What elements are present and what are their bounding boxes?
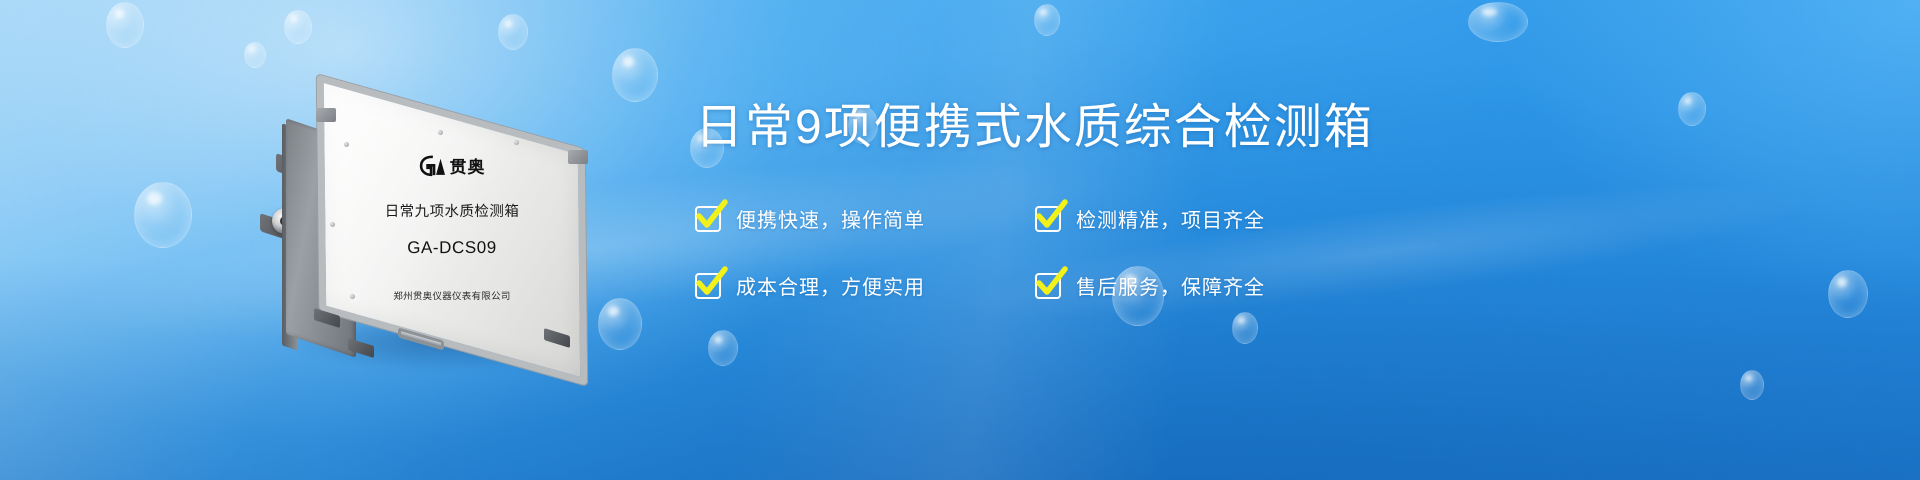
bubble-icon (134, 182, 192, 248)
feature-label: 售后服务，保障齐全 (1076, 271, 1265, 300)
feature-list: 便携快速，操作简单 检测精准，项目齐全 成本合理，方便实用 (695, 204, 1695, 300)
product-hero-banner: 贯奥 日常九项水质检测箱 GA-DCS09 郑州贯奥仪器仪表有限公司 日常9项便… (0, 0, 1920, 480)
bubble-icon (612, 48, 658, 102)
case-model: GA-DCS09 (407, 238, 497, 258)
case-corner-bracket (316, 108, 336, 122)
feature-item-1: 便携快速，操作简单 (695, 204, 1035, 233)
screw-icon (330, 222, 335, 227)
case-title: 日常九项水质检测箱 (385, 200, 520, 221)
ga-monogram-icon (419, 154, 445, 176)
bubble-icon (498, 14, 528, 50)
checkbox-checked-icon (1035, 206, 1061, 232)
banner-content: 日常9项便携式水质综合检测箱 便携快速，操作简单 检测精准，项目齐全 (695, 104, 1695, 300)
feature-label: 便携快速，操作简单 (736, 204, 925, 233)
checkbox-checked-icon (695, 206, 721, 232)
page-title: 日常9项便携式水质综合检测箱 (695, 104, 1695, 152)
bubble-icon (708, 330, 738, 366)
brand-name: 贯奥 (450, 153, 486, 178)
bubble-icon (1828, 270, 1868, 318)
bubble-icon (284, 10, 312, 44)
bubble-icon (1468, 2, 1528, 42)
brand-lockup: 贯奥 (419, 153, 486, 178)
bubble-icon (1232, 312, 1258, 344)
bubble-icon (1034, 4, 1060, 36)
case-company-name: 郑州贯奥仪器仪表有限公司 (393, 288, 510, 302)
screw-icon (344, 142, 349, 147)
feature-label: 检测精准，项目齐全 (1076, 204, 1265, 233)
checkbox-checked-icon (695, 273, 721, 299)
feature-item-2: 检测精准，项目齐全 (1035, 204, 1375, 233)
product-image: 贯奥 日常九项水质检测箱 GA-DCS09 郑州贯奥仪器仪表有限公司 (252, 96, 612, 376)
case-corner-bracket (568, 150, 588, 164)
feature-item-4: 售后服务，保障齐全 (1035, 271, 1375, 300)
feature-item-3: 成本合理，方便实用 (695, 271, 1035, 300)
checkbox-checked-icon (1035, 273, 1061, 299)
feature-label: 成本合理，方便实用 (736, 271, 925, 300)
screw-icon (514, 140, 519, 145)
screw-icon (350, 294, 355, 299)
bubble-icon (244, 42, 266, 68)
bubble-icon (1740, 370, 1764, 400)
screw-icon (438, 130, 443, 135)
bubble-icon (106, 2, 144, 48)
